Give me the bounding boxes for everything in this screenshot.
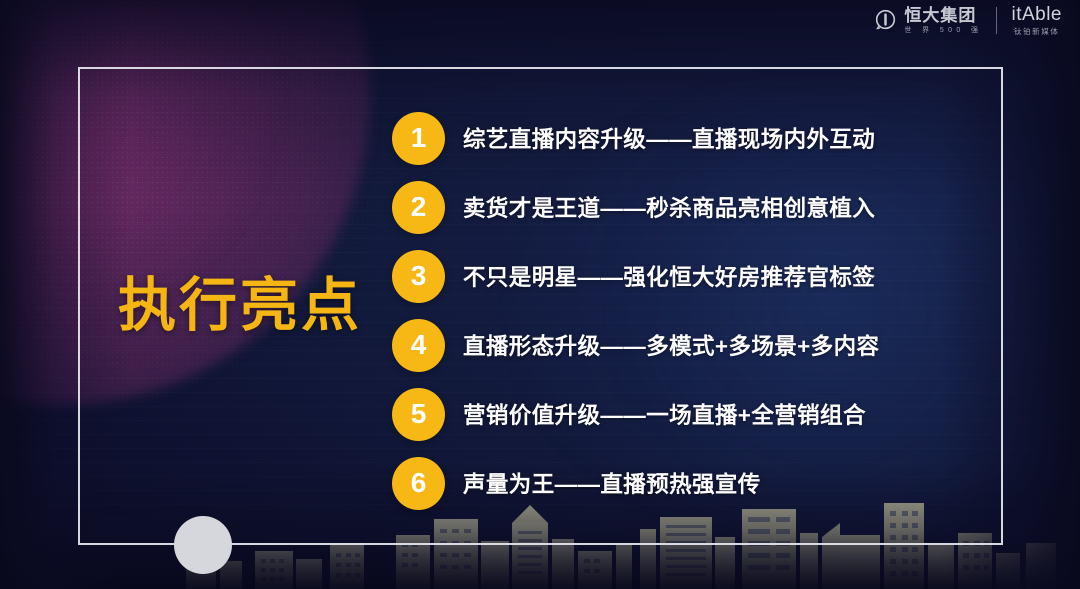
list-item: 2 卖货才是王道——秒杀商品亮相创意植入 [392,179,952,235]
slide-canvas: 恒大集团 世 界 500 强 itAble 钛铂新媒体 执行亮点 1 综艺直播内… [0,0,1080,589]
header-logos: 恒大集团 世 界 500 强 itAble 钛铂新媒体 [874,5,1062,36]
list-item-number-badge: 2 [392,181,445,234]
list-item-number-badge: 6 [392,457,445,510]
list-item: 3 不只是明星——强化恒大好房推荐官标签 [392,248,952,304]
list-item-label: 综艺直播内容升级——直播现场内外互动 [463,122,875,154]
list-item-label: 卖货才是王道——秒杀商品亮相创意植入 [463,191,875,223]
list-item-number-badge: 1 [392,112,445,165]
itable-name: itAble [1011,5,1062,24]
itable-logo: itAble 钛铂新媒体 [1011,5,1062,36]
list-item: 1 综艺直播内容升级——直播现场内外互动 [392,110,952,166]
page-title: 执行亮点 [118,277,362,335]
list-item: 6 声量为王——直播预热强宣传 [392,455,952,511]
list-item-label: 营销价值升级——一场直播+全营销组合 [463,398,866,430]
list-item-number-badge: 5 [392,388,445,441]
list-item-label: 直播形态升级——多模式+多场景+多内容 [463,329,879,361]
logo-divider [996,7,997,34]
list-item-label: 声量为王——直播预热强宣传 [463,467,761,499]
list-item-number-badge: 3 [392,250,445,303]
list-item-number-badge: 4 [392,319,445,372]
evergrande-logo: 恒大集团 世 界 500 强 [874,7,982,34]
list-item: 4 直播形态升级——多模式+多场景+多内容 [392,317,952,373]
list-item-label: 不只是明星——强化恒大好房推荐官标签 [463,260,875,292]
highlight-list: 1 综艺直播内容升级——直播现场内外互动 2 卖货才是王道——秒杀商品亮相创意植… [392,110,952,524]
frame-accent-circle [174,516,232,574]
evergrande-logo-icon [874,9,897,32]
evergrande-subtitle: 世 界 500 强 [904,27,982,34]
evergrande-logo-text: 恒大集团 世 界 500 强 [904,7,982,34]
list-item: 5 营销价值升级——一场直播+全营销组合 [392,386,952,442]
itable-subtitle: 钛铂新媒体 [1014,28,1060,36]
evergrande-name: 恒大集团 [904,7,982,24]
